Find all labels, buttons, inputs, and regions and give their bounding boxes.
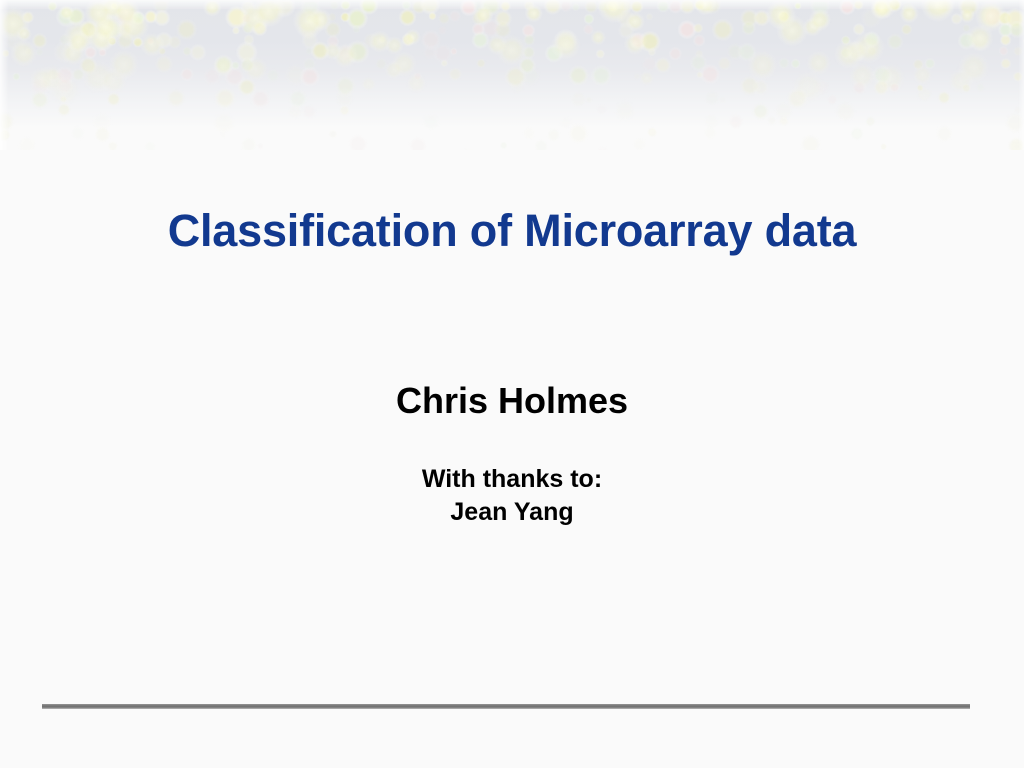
slide-title: Classification of Microarray data [0,205,1024,257]
acknowledgement-name: Jean Yang [0,496,1024,529]
presenter-name: Chris Holmes [0,380,1024,422]
microarray-spots-canvas [0,0,1024,150]
footer-divider-rule [42,704,970,709]
acknowledgement-label: With thanks to: [0,463,1024,496]
banner-right-feather [1018,0,1024,150]
presentation-slide: Classification of Microarray data Chris … [0,0,1024,768]
banner-top-feather [0,0,1024,9]
microarray-spots-layer [0,0,1024,150]
banner-left-feather [0,0,9,150]
microarray-spot-banner [0,0,1024,150]
acknowledgements-block: With thanks to: Jean Yang [0,463,1024,529]
